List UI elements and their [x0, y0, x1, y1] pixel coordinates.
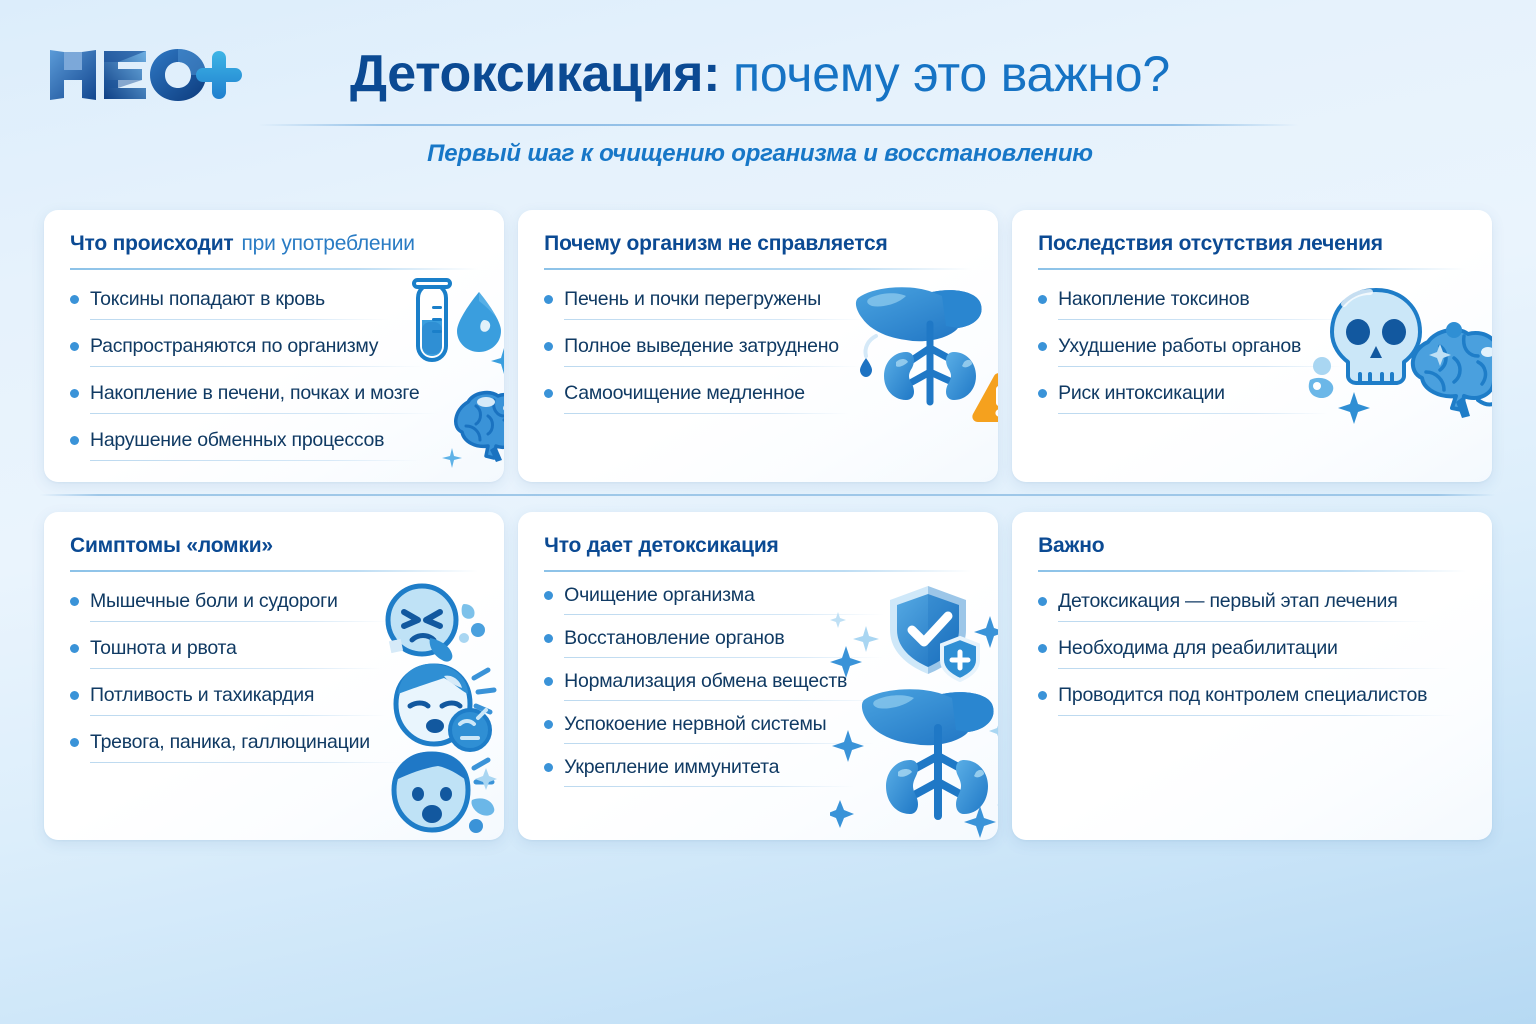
list-item-rule: [564, 700, 886, 701]
list-item-text: Риск интоксикации: [1058, 380, 1225, 406]
bullet-dot: [1038, 295, 1047, 304]
list-item: Печень и почки перегружены: [544, 286, 972, 320]
list-item: Мышечные боли и судороги: [70, 588, 478, 622]
list-item: Полное выведение затруднено: [544, 333, 972, 367]
list-item-text: Нормализация обмена веществ: [564, 668, 847, 694]
list-item: Детоксикация — первый этап лечения: [1038, 588, 1466, 622]
list-item-text: Накопление токсинов: [1058, 286, 1249, 312]
bullet-list: Детоксикация — первый этап лечения Необх…: [1038, 588, 1466, 716]
sparkle-icon: [490, 292, 504, 384]
page-title-strong: Детоксикация:: [350, 44, 720, 104]
card-title: Последствия отсутствия лечения: [1038, 232, 1466, 256]
list-item-text: Тревога, паника, галлюцинации: [90, 729, 370, 755]
list-item: Необходима для реабилитации: [1038, 635, 1466, 669]
list-item: Потливость и тахикардия: [70, 682, 478, 716]
list-item-text: Распространяются по организму: [90, 333, 378, 359]
bullet-dot: [1038, 389, 1047, 398]
card-row-bottom: Симптомы «ломки» Мышечные боли и судорог…: [0, 512, 1536, 840]
list-item-text: Потливость и тахикардия: [90, 682, 314, 708]
neo-plus-logo: [44, 44, 249, 106]
list-item-rule: [1058, 366, 1344, 367]
card-withdrawal-symptoms[interactable]: Симптомы «ломки» Мышечные боли и судорог…: [44, 512, 504, 840]
list-item: Накопление токсинов: [1038, 286, 1466, 320]
list-item-text: Полное выведение затруднено: [564, 333, 839, 359]
list-item: Тошнота и рвота: [70, 635, 478, 669]
bullet-dot: [70, 342, 79, 351]
list-item-text: Проводится под контролем специалистов: [1058, 682, 1427, 708]
list-item-rule: [90, 413, 438, 414]
bullet-dot: [544, 295, 553, 304]
list-item-rule: [90, 366, 424, 367]
list-item: Нарушение обменных процессов: [70, 427, 478, 461]
list-item-text: Восстановление органов: [564, 625, 784, 651]
card-title-strong: Симптомы «ломки»: [70, 534, 273, 558]
bullet-list: Очищение организма Восстановление органо…: [544, 582, 972, 787]
list-item: Накопление в печени, почках и мозге: [70, 380, 478, 414]
bullet-list: Токсины попадают в кровь Распространяютс…: [70, 286, 478, 461]
card-title-strong: Важно: [1038, 534, 1104, 558]
bullet-list: Мышечные боли и судороги Тошнота и рвота…: [70, 588, 478, 763]
list-item-rule: [564, 786, 854, 787]
list-item-rule: [1058, 668, 1452, 669]
card-title-light: при употреблении: [242, 232, 415, 256]
list-item-rule: [90, 668, 382, 669]
list-item-text: Мышечные боли и судороги: [90, 588, 338, 614]
list-item-rule: [564, 657, 884, 658]
card-title: Что дает детоксикация: [544, 534, 972, 558]
bullet-dot: [544, 634, 553, 643]
bullet-dot: [70, 644, 79, 653]
list-item-text: Печень и почки перегружены: [564, 286, 821, 312]
list-item: Риск интоксикации: [1038, 380, 1466, 414]
list-item-text: Очищение организма: [564, 582, 754, 608]
bullet-dot: [70, 295, 79, 304]
card-consequences[interactable]: Последствия отсутствия лечения Накоплени…: [1012, 210, 1492, 482]
bullet-dot: [544, 389, 553, 398]
bullet-dot: [544, 591, 553, 600]
page-title: Детоксикация: почему это важно?: [290, 44, 1230, 110]
list-item-rule: [90, 319, 388, 320]
card-title: Почему организм не справляется: [544, 232, 972, 256]
list-item: Самоочищение медленное: [544, 380, 972, 414]
list-item-text: Нарушение обменных процессов: [90, 427, 384, 453]
card-why-body-fails[interactable]: Почему организм не справляется Печень и …: [518, 210, 998, 482]
bullet-list: Печень и почки перегружены Полное выведе…: [544, 286, 972, 414]
list-item-text: Токсины попадают в кровь: [90, 286, 325, 312]
list-item-rule: [90, 460, 420, 461]
card-title-strong: Почему организм не справляется: [544, 232, 887, 256]
row-divider: [40, 494, 1496, 496]
infographic-stage: Детоксикация: почему это важно? Первый ш…: [0, 0, 1536, 1024]
bullet-dot: [1038, 644, 1047, 653]
list-item-rule: [564, 413, 848, 414]
bullet-dot: [544, 720, 553, 729]
list-item-text: Тошнота и рвота: [90, 635, 237, 661]
list-item-text: Необходима для реабилитации: [1058, 635, 1338, 661]
list-item: Ухудшение работы органов: [1038, 333, 1466, 367]
list-item: Укрепление иммунитета: [544, 754, 972, 787]
list-item-text: Самоочищение медленное: [564, 380, 805, 406]
card-row-top: Что происходит при употреблении Токсины …: [0, 210, 1536, 482]
list-item-rule: [1058, 621, 1430, 622]
bullet-dot: [70, 436, 79, 445]
list-item-rule: [564, 614, 884, 615]
page-title-light: почему это важно?: [733, 45, 1170, 103]
card-title: Важно: [1038, 534, 1466, 558]
card-important[interactable]: Важно Детоксикация — первый этап лечения…: [1012, 512, 1492, 840]
card-title: Что происходит при употреблении: [70, 232, 478, 256]
list-item-text: Укрепление иммунитета: [564, 754, 779, 780]
list-item-text: Успокоение нервной системы: [564, 711, 826, 737]
bullet-dot: [70, 738, 79, 747]
bullet-list: Накопление токсинов Ухудшение работы орг…: [1038, 286, 1466, 414]
warning-triangle-icon: [970, 370, 998, 424]
bullet-dot: [544, 763, 553, 772]
card-title-divider: [1038, 268, 1466, 270]
card-title-divider: [544, 570, 972, 572]
bullet-dot: [70, 597, 79, 606]
card-title-strong: Что дает детоксикация: [544, 534, 778, 558]
card-what-happens[interactable]: Что происходит при употреблении Токсины …: [44, 210, 504, 482]
list-item: Тревога, паника, галлюцинации: [70, 729, 478, 763]
title-divider: [258, 124, 1298, 126]
card-title-divider: [544, 268, 972, 270]
bullet-dot: [1038, 342, 1047, 351]
card-title-strong: Последствия отсутствия лечения: [1038, 232, 1383, 256]
list-item: Проводится под контролем специалистов: [1038, 682, 1466, 716]
bullet-dot: [70, 691, 79, 700]
list-item-rule: [1058, 319, 1350, 320]
bullet-dot: [1038, 691, 1047, 700]
list-item: Очищение организма: [544, 582, 972, 615]
list-item-rule: [1058, 715, 1456, 716]
card-title-divider: [70, 268, 478, 270]
bullet-dot: [544, 677, 553, 686]
bullet-dot: [70, 389, 79, 398]
list-item: Распространяются по организму: [70, 333, 478, 367]
list-item-text: Детоксикация — первый этап лечения: [1058, 588, 1397, 614]
header: Детоксикация: почему это важно? Первый ш…: [0, 0, 1536, 190]
bullet-dot: [544, 342, 553, 351]
card-detox-benefits[interactable]: Что дает детоксикация Очищение организма…: [518, 512, 998, 840]
list-item-rule: [90, 621, 390, 622]
card-title: Симптомы «ломки»: [70, 534, 478, 558]
list-item-rule: [90, 715, 386, 716]
bullet-dot: [1038, 597, 1047, 606]
list-item-rule: [90, 762, 406, 763]
card-title-divider: [70, 570, 478, 572]
page-subtitle: Первый шаг к очищению организма и восста…: [290, 140, 1230, 168]
card-title-divider: [1038, 570, 1466, 572]
list-item-rule: [564, 743, 874, 744]
list-item-rule: [564, 319, 864, 320]
list-item-text: Ухудшение работы органов: [1058, 333, 1301, 359]
list-item: Успокоение нервной системы: [544, 711, 972, 744]
list-item: Нормализация обмена веществ: [544, 668, 972, 701]
list-item-rule: [1058, 413, 1328, 414]
list-item-text: Накопление в печени, почках и мозге: [90, 380, 419, 406]
list-item: Токсины попадают в кровь: [70, 286, 478, 320]
card-title-strong: Что происходит: [70, 232, 234, 256]
list-item-rule: [564, 366, 860, 367]
list-item: Восстановление органов: [544, 625, 972, 658]
